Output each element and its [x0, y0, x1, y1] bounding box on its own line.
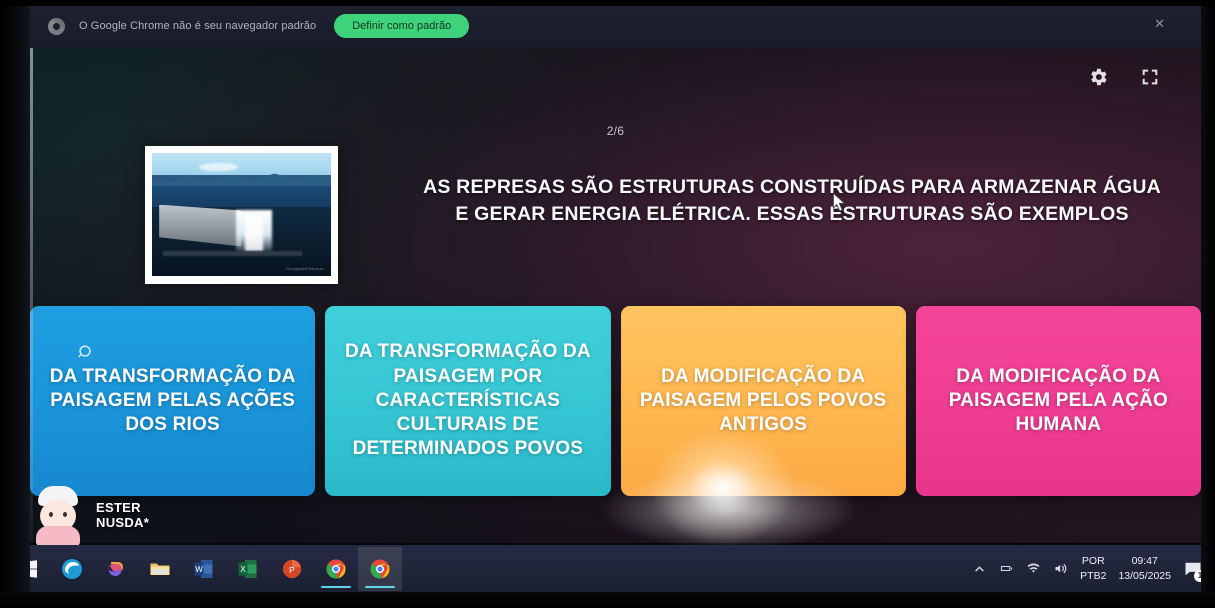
answer-option-1[interactable]: DA TRANSFORMAÇÃO DA PAISAGEM PELAS AÇÕES… [30, 306, 315, 496]
taskbar-copilot[interactable] [94, 547, 138, 591]
svg-text:X: X [240, 565, 246, 574]
question-line-2: E GERAR ENERGIA ELÉTRICA. ESSAS ESTRUTUR… [412, 201, 1172, 228]
quiz-stage: 2/6 Divulgação/Eletrobras [30, 48, 1201, 543]
chrome-logo-icon [48, 18, 65, 35]
gear-icon[interactable] [1087, 66, 1109, 88]
question-text: AS REPRESAS SÃO ESTRUTURAS CONSTRUÍDAS P… [412, 174, 1172, 228]
language-indicator[interactable]: POR PTB2 [1080, 554, 1106, 582]
set-default-button[interactable]: Definir como padrão [334, 14, 469, 38]
svg-text:P: P [289, 565, 295, 575]
answer-option-2[interactable]: DA TRANSFORMAÇÃO DA PAISAGEM POR CARACTE… [325, 306, 610, 496]
dam-photograph: Divulgação/Eletrobras [152, 153, 331, 276]
question-row: Divulgação/Eletrobras AS REPRESAS SÃO ES… [30, 144, 1201, 289]
answer-option-4[interactable]: DA MODIFICAÇÃO DA PAISAGEM PELA AÇÃO HUM… [916, 306, 1201, 496]
clock[interactable]: 09:47 13/05/2025 [1118, 554, 1171, 582]
svg-text:W: W [195, 565, 203, 574]
battery-icon[interactable] [999, 561, 1014, 576]
volume-icon[interactable] [1053, 561, 1068, 576]
monitor-bezel-top [0, 0, 1215, 6]
clock-date: 13/05/2025 [1118, 569, 1171, 583]
taskbar-excel[interactable]: X [226, 547, 270, 591]
system-tray: POR PTB2 09:47 13/05/2025 1 [972, 545, 1207, 592]
clock-time: 09:47 [1118, 554, 1171, 568]
wifi-icon[interactable] [1026, 561, 1041, 576]
word-icon: W [192, 557, 216, 581]
chrome-icon [324, 557, 348, 581]
question-image[interactable]: Divulgação/Eletrobras [145, 146, 338, 284]
monitor-bezel-right [1201, 0, 1215, 608]
infobar-message: O Google Chrome não é seu navegador padr… [79, 20, 316, 32]
question-line-1: AS REPRESAS SÃO ESTRUTURAS CONSTRUÍDAS P… [412, 174, 1172, 201]
notification-center-button[interactable]: 1 [1183, 559, 1203, 579]
taskbar-edge[interactable] [50, 547, 94, 591]
taskbar-icons: W X P [0, 547, 402, 591]
page-counter: 2/6 [30, 124, 1201, 138]
chrome-default-browser-infobar: O Google Chrome não é seu navegador padr… [30, 4, 1201, 48]
chrome-icon [368, 557, 392, 581]
stage-controls [1087, 66, 1161, 88]
close-icon[interactable]: ✕ [1154, 17, 1165, 30]
player-name-line-1: ESTER [96, 500, 149, 515]
language-line-1: POR [1080, 554, 1106, 568]
language-line-2: PTB2 [1080, 569, 1106, 583]
taskbar-chrome-1[interactable] [314, 547, 358, 591]
player-name-line-2: NUSDA* [96, 515, 149, 530]
player-identity: ESTER NUSDA* [30, 486, 149, 544]
copilot-icon [104, 557, 128, 581]
taskbar-chrome-2[interactable] [358, 547, 402, 591]
fullscreen-icon[interactable] [1139, 66, 1161, 88]
answer-options: DA TRANSFORMAÇÃO DA PAISAGEM PELAS AÇÕES… [30, 306, 1201, 496]
monitor-photo-screen: O Google Chrome não é seu navegador padr… [0, 0, 1215, 608]
image-credit: Divulgação/Eletrobras [286, 267, 323, 271]
taskbar-powerpoint[interactable]: P [270, 547, 314, 591]
show-hidden-icons-chevron[interactable] [972, 561, 987, 576]
folder-icon [148, 557, 172, 581]
windows-taskbar: W X P [0, 545, 1215, 592]
player-name: ESTER NUSDA* [96, 500, 149, 531]
monitor-bezel-left [0, 0, 30, 608]
excel-icon: X [236, 557, 260, 581]
edge-icon [60, 557, 84, 581]
powerpoint-icon: P [280, 557, 304, 581]
monitor-bezel-bottom [0, 592, 1215, 608]
taskbar-file-explorer[interactable] [138, 547, 182, 591]
avatar [30, 486, 86, 544]
taskbar-word[interactable]: W [182, 547, 226, 591]
magnifier-icon[interactable] [78, 344, 95, 361]
answer-option-3[interactable]: DA MODIFICAÇÃO DA PAISAGEM PELOS POVOS A… [621, 306, 906, 496]
